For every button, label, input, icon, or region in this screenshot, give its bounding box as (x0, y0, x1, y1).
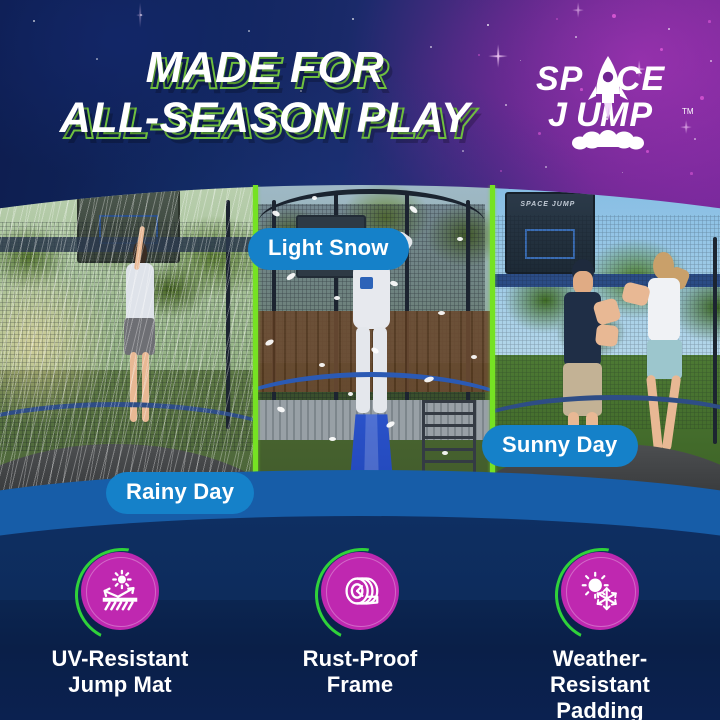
icon-inner-ring (566, 557, 636, 627)
space-jump-logo: SP CE J MP U (522, 44, 702, 154)
feature-icon-wrap (561, 552, 639, 630)
infographic-canvas: MADE FOR MADE FOR ALL-SEASON PLAY ALL-SE… (0, 0, 720, 720)
badge-rainy-day: Rainy Day (106, 472, 254, 514)
logo-artwork: SP CE J MP U (522, 44, 702, 154)
feature-label-line-2: Jump Mat (52, 672, 189, 698)
icon-inner-ring (326, 557, 396, 627)
svg-text:J: J (548, 96, 568, 134)
hoop-logo: SPACE JUMP (515, 202, 581, 208)
feature-rust-proof-frame: Rust-Proof Frame (274, 552, 446, 720)
svg-text:U: U (576, 96, 602, 134)
feature-weather-resistant-padding: Weather-Resistant Padding (514, 552, 686, 720)
badge-light-snow: Light Snow (248, 228, 409, 270)
feature-label: Weather-Resistant Padding (514, 646, 686, 720)
feature-uv-resistant-jump-mat: UV-Resistant Jump Mat (34, 552, 206, 720)
feature-icon-wrap (321, 552, 399, 630)
sun-snowflake-icon (561, 552, 639, 630)
feature-label-line-1: UV-Resistant (52, 646, 189, 672)
feature-icon-wrap (81, 552, 159, 630)
badge-sunny-day: Sunny Day (482, 425, 638, 467)
feature-label-line-1: Rust-Proof (303, 646, 418, 672)
sun-reflect-surface-icon (81, 552, 159, 630)
icon-inner-ring (86, 557, 156, 627)
logo-trademark: TM (682, 107, 694, 116)
svg-text:SP: SP (536, 60, 583, 98)
feature-label-line-2: Padding (514, 698, 686, 720)
feature-label-line-2: Frame (303, 672, 418, 698)
feature-label-line-1: Weather-Resistant (514, 646, 686, 698)
feature-label: Rust-Proof Frame (303, 646, 418, 698)
feature-label: UV-Resistant Jump Mat (52, 646, 189, 698)
metal-roll-icon (321, 552, 399, 630)
feature-list: UV-Resistant Jump Mat (0, 552, 720, 720)
